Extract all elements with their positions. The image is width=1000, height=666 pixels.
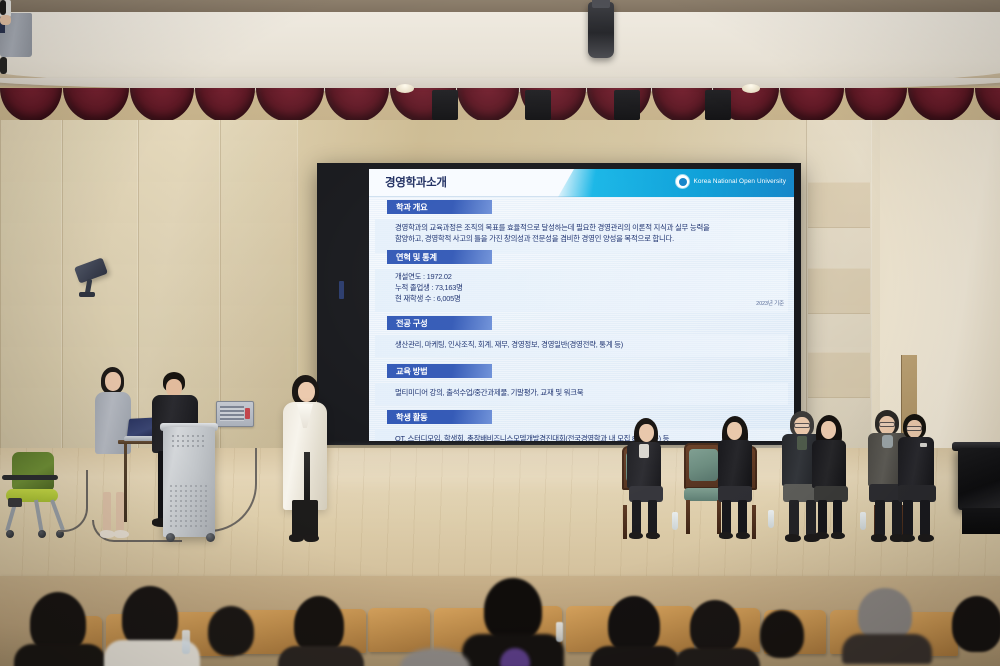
slide-header: 경영학과소개 Korea National Open University bbox=[369, 169, 794, 197]
ceiling-speaker-icon bbox=[525, 90, 551, 120]
podium-castor bbox=[166, 533, 175, 542]
shin bbox=[789, 500, 799, 536]
water-bottle bbox=[672, 512, 678, 530]
audience-member-head bbox=[952, 596, 1000, 652]
section-heading-0: 학과 개요 bbox=[387, 200, 492, 214]
section-text-4-line-0: OT, 스터디모임, 학생회, 총장배비즈니스모델개발경진대회(전국경영학과 내… bbox=[395, 433, 669, 441]
shoe bbox=[736, 532, 750, 539]
shoe bbox=[831, 532, 845, 539]
recessed-light-icon bbox=[742, 84, 760, 93]
shoe bbox=[899, 534, 915, 542]
table-leg bbox=[124, 444, 127, 522]
shoe bbox=[815, 532, 829, 539]
audience-member-head bbox=[208, 606, 254, 656]
green-office-chair-arm bbox=[2, 475, 58, 480]
section-text-1-line-1: 누적 졸업생 : 73,163명 bbox=[395, 282, 463, 293]
ceiling-projector-icon bbox=[588, 2, 614, 58]
shin bbox=[722, 500, 731, 534]
glasses-icon bbox=[906, 426, 922, 431]
section-heading-4: 학생 활동 bbox=[387, 410, 492, 424]
shin bbox=[818, 500, 827, 534]
shin bbox=[903, 500, 913, 536]
handheld-microphone-icon bbox=[0, 57, 7, 74]
wall-accent-block bbox=[808, 352, 870, 398]
audience-member-shoulders bbox=[590, 646, 680, 666]
green-office-chair-back[interactable] bbox=[12, 452, 54, 490]
face bbox=[298, 382, 315, 402]
section-text-0-line-0: 경영학과의 교육과정은 조직의 목표를 효율적으로 달성하는데 필요한 경영관리… bbox=[395, 222, 710, 233]
shin bbox=[632, 500, 641, 534]
section-heading-label: 전공 구성 bbox=[396, 317, 427, 329]
wall-accent-block bbox=[808, 182, 870, 228]
section-heading-label: 교육 방법 bbox=[396, 365, 427, 377]
shin bbox=[648, 500, 657, 534]
section-heading-2: 전공 구성 bbox=[387, 316, 492, 330]
handheld-microphone-icon bbox=[0, 0, 6, 15]
water-bottle bbox=[768, 510, 774, 528]
hand bbox=[0, 15, 11, 25]
stage-valance-curtain bbox=[0, 88, 1000, 124]
grand-piano-base bbox=[962, 508, 1000, 534]
water-bottle bbox=[860, 512, 866, 530]
slide-body: 학과 개요 경영학과의 교육과정은 조직의 목표를 효율적으로 달성하는데 필요… bbox=[369, 197, 794, 441]
security-camera-mount bbox=[79, 292, 95, 297]
chair-castor bbox=[38, 530, 46, 538]
face bbox=[639, 424, 654, 442]
shoe bbox=[629, 532, 643, 539]
slide-brand: Korea National Open University bbox=[676, 175, 786, 188]
presentation-slide: 경영학과소개 Korea National Open University 학과… bbox=[369, 169, 794, 441]
audience-member-head bbox=[484, 578, 542, 642]
torso-black-suit bbox=[718, 440, 752, 488]
glasses-icon bbox=[879, 422, 895, 427]
podium-castor bbox=[206, 533, 215, 542]
section-text-0-line-1: 함양하고, 경영학적 사고의 틀을 가진 창의성과 전문성을 겸비한 경영인 양… bbox=[395, 233, 674, 244]
shin bbox=[806, 500, 816, 536]
panel-chair-cushion bbox=[689, 449, 718, 481]
slide-title: 경영학과소개 bbox=[385, 174, 447, 190]
leg bbox=[103, 492, 111, 532]
podium-grill bbox=[171, 434, 207, 450]
section-heading-3: 교육 방법 bbox=[387, 364, 492, 378]
podium-grill bbox=[169, 484, 209, 528]
wall-control-panel[interactable] bbox=[216, 401, 254, 427]
shin bbox=[875, 500, 885, 536]
screen-brand-mark bbox=[339, 281, 344, 299]
auditorium-scene: 경영학과소개 Korea National Open University 학과… bbox=[0, 0, 1000, 666]
face bbox=[105, 372, 121, 391]
knou-emblem-icon bbox=[676, 175, 689, 188]
shoe bbox=[719, 532, 733, 539]
leg bbox=[116, 492, 124, 532]
control-panel-rows bbox=[220, 406, 244, 421]
glasses-icon bbox=[794, 423, 810, 428]
chair-leg bbox=[717, 500, 721, 534]
audience-member-shoulders bbox=[278, 646, 364, 666]
section-text-1-line-2: 현 재학생 수 : 6,005명 bbox=[395, 293, 461, 304]
wall-panel-column bbox=[0, 120, 62, 450]
face bbox=[821, 421, 836, 439]
ceiling-speaker-icon bbox=[705, 90, 731, 120]
shin bbox=[738, 500, 747, 534]
shoe bbox=[646, 532, 660, 539]
cable-plug bbox=[8, 498, 22, 507]
screen-bezel bbox=[317, 163, 369, 445]
audience-seat[interactable] bbox=[368, 608, 430, 652]
recessed-light-icon bbox=[396, 84, 414, 93]
shin bbox=[833, 500, 842, 534]
turtleneck bbox=[882, 435, 893, 448]
shoe bbox=[785, 534, 801, 542]
projection-screen: 경영학과소개 Korea National Open University 학과… bbox=[317, 163, 801, 445]
section-heading-1: 연혁 및 통계 bbox=[387, 250, 492, 264]
chair-leg bbox=[686, 500, 690, 534]
section-text-3-line-0: 멀티미디어 강의, 출석수업/중간과제물, 기말평가, 교재 및 워크북 bbox=[395, 387, 583, 398]
audience-member-shoulders bbox=[842, 634, 932, 664]
grand-piano bbox=[958, 448, 1000, 510]
knou-brand-name: Korea National Open University bbox=[693, 178, 786, 185]
water-bottle bbox=[556, 622, 563, 642]
shoe bbox=[114, 530, 129, 538]
audience-member-shoulders bbox=[674, 648, 760, 666]
blouse bbox=[639, 444, 649, 458]
shoe bbox=[289, 534, 304, 542]
section-text-1-line-0: 개설연도 : 1972.02 bbox=[395, 271, 452, 282]
ceiling-speaker-icon bbox=[432, 90, 458, 120]
chair-castor bbox=[6, 530, 14, 538]
wall-accent-block bbox=[808, 268, 870, 314]
shoe bbox=[918, 534, 934, 542]
control-panel-indicator bbox=[245, 408, 250, 419]
stats-as-of-note: 2023년 기준 bbox=[756, 299, 784, 307]
pocket-square bbox=[920, 443, 927, 447]
audience-member-head bbox=[760, 610, 804, 658]
shoe bbox=[100, 530, 115, 538]
shoe bbox=[304, 534, 319, 542]
ceiling-speaker-icon bbox=[614, 90, 640, 120]
water-bottle bbox=[182, 630, 190, 654]
section-heading-label: 학과 개요 bbox=[396, 201, 427, 213]
shin bbox=[920, 500, 930, 536]
section-heading-label: 학생 활동 bbox=[396, 411, 427, 423]
chair-leg bbox=[623, 505, 627, 539]
shoe bbox=[871, 534, 887, 542]
torso-dark-suit bbox=[898, 437, 934, 487]
section-text-2-line-0: 생산관리, 마케팅, 인사조직, 회계, 재무, 경영정보, 경영일반(경영전략… bbox=[395, 339, 623, 350]
section-heading-label: 연혁 및 통계 bbox=[396, 251, 437, 263]
audience-member-head bbox=[690, 600, 740, 654]
legs bbox=[292, 500, 318, 538]
inner-shirt bbox=[797, 436, 807, 450]
face bbox=[727, 422, 742, 440]
audience-member-shoulders bbox=[14, 644, 106, 666]
torso-black-coat bbox=[812, 440, 846, 488]
shin bbox=[892, 500, 902, 536]
person-speaker bbox=[0, 0, 11, 25]
chair-leg bbox=[752, 505, 756, 539]
